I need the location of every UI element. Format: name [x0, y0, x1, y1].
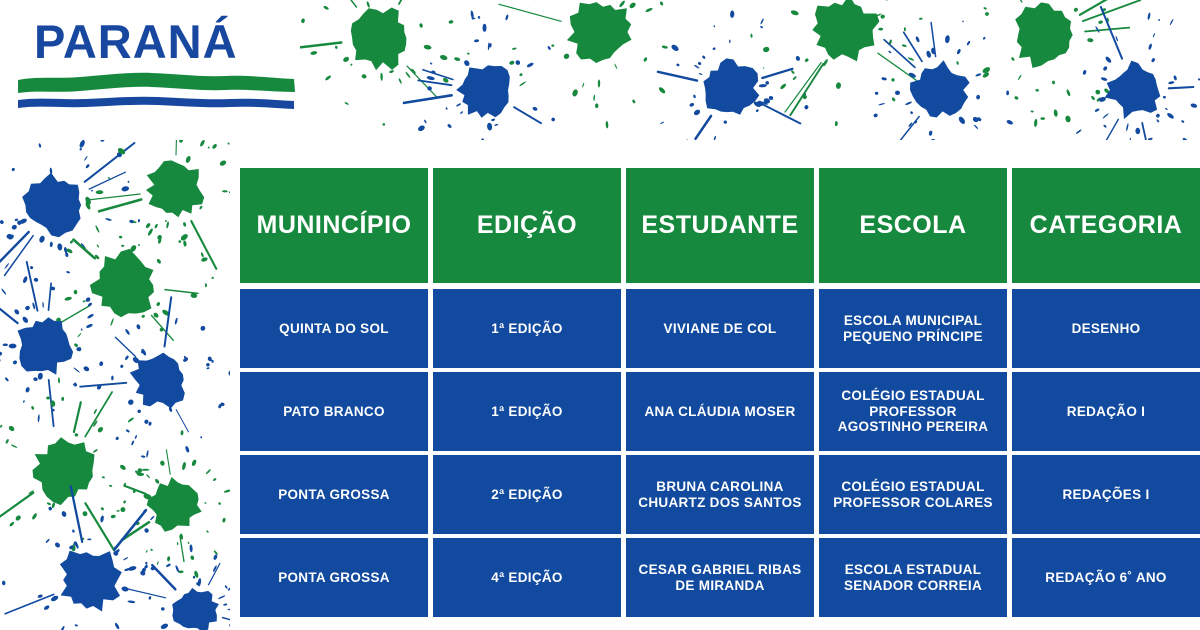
brush-stroke-green: [18, 73, 295, 93]
table-row: PONTA GROSSA 2ª EDIÇÃO BRUNA CAROLINACHU…: [240, 455, 1200, 534]
cell-municipio: PONTA GROSSA: [240, 455, 428, 534]
cell-categoria: REDAÇÃO I: [1012, 372, 1200, 451]
brush-strokes: [18, 66, 308, 116]
cell-edicao: 2ª EDIÇÃO: [433, 455, 621, 534]
cell-municipio: QUINTA DO SOL: [240, 289, 428, 368]
page-title: PARANÁ: [18, 8, 308, 65]
table-row: QUINTA DO SOL 1ª EDIÇÃO VIVIANE DE COL E…: [240, 289, 1200, 368]
cell-estudante: BRUNA CAROLINACHUARTZ DOS SANTOS: [626, 455, 814, 534]
cell-escola: ESCOLA MUNICIPALPEQUENO PRÍNCIPE: [819, 289, 1007, 368]
cell-estudante: ANA CLÁUDIA MOSER: [626, 372, 814, 451]
paint-splatter-left: [0, 140, 230, 630]
brand-logo: PARANÁ: [18, 8, 308, 113]
column-header-escola: ESCOLA: [819, 168, 1007, 283]
paint-splatter-top: [300, 0, 1200, 140]
cell-edicao: 1ª EDIÇÃO: [433, 372, 621, 451]
cell-estudante: CESAR GABRIEL RIBASDE MIRANDA: [626, 538, 814, 617]
column-header-estudante: ESTUDANTE: [626, 168, 814, 283]
cell-categoria: REDAÇÃO 6˚ ANO: [1012, 538, 1200, 617]
table-row: PATO BRANCO 1ª EDIÇÃO ANA CLÁUDIA MOSER …: [240, 372, 1200, 451]
poster-canvas: PARANÁ MUNINCÍPIO EDIÇÃO ESTUDANTE ESCOL…: [0, 0, 1200, 630]
column-header-edicao: EDIÇÃO: [433, 168, 621, 283]
cell-categoria: REDAÇÕES I: [1012, 455, 1200, 534]
brush-stroke-blue: [18, 97, 294, 109]
cell-escola: ESCOLA ESTADUALSENADOR CORREIA: [819, 538, 1007, 617]
table-row: PONTA GROSSA 4ª EDIÇÃO CESAR GABRIEL RIB…: [240, 538, 1200, 617]
cell-municipio: PONTA GROSSA: [240, 538, 428, 617]
table-header-row: MUNINCÍPIO EDIÇÃO ESTUDANTE ESCOLA CATEG…: [240, 168, 1200, 283]
cell-categoria: DESENHO: [1012, 289, 1200, 368]
results-table: MUNINCÍPIO EDIÇÃO ESTUDANTE ESCOLA CATEG…: [240, 168, 1200, 630]
column-header-categoria: CATEGORIA: [1012, 168, 1200, 283]
column-header-municipio: MUNINCÍPIO: [240, 168, 428, 283]
cell-municipio: PATO BRANCO: [240, 372, 428, 451]
cell-edicao: 4ª EDIÇÃO: [433, 538, 621, 617]
cell-edicao: 1ª EDIÇÃO: [433, 289, 621, 368]
cell-estudante: VIVIANE DE COL: [626, 289, 814, 368]
cell-escola: COLÉGIO ESTADUALPROFESSOR COLARES: [819, 455, 1007, 534]
cell-escola: COLÉGIO ESTADUALPROFESSORAGOSTINHO PEREI…: [819, 372, 1007, 451]
